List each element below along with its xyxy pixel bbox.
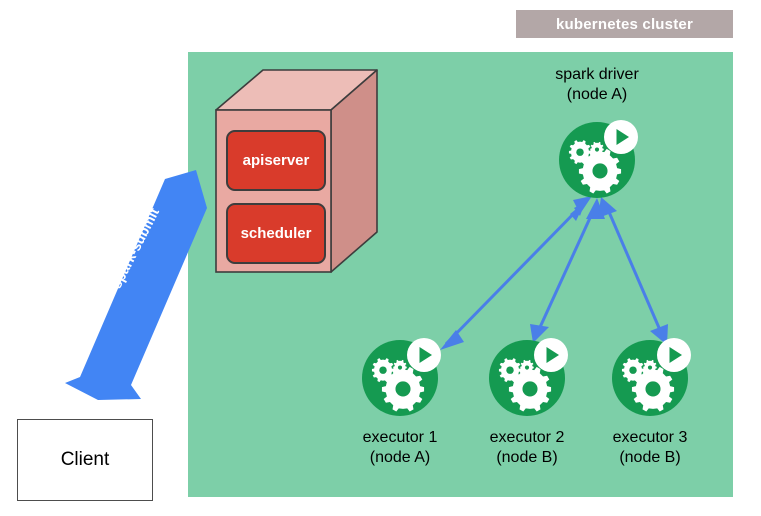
executor-2-subtitle: (node B) xyxy=(467,448,587,468)
spark-submit-arrow xyxy=(65,170,207,400)
spark-driver-title: spark driver xyxy=(527,65,667,85)
spark-driver-subtitle: (node A) xyxy=(527,85,667,105)
executor-3-subtitle: (node B) xyxy=(590,448,710,468)
executor-2-title: executor 2 xyxy=(467,428,587,448)
scheduler-component[interactable]: scheduler xyxy=(226,203,326,264)
executor-1-subtitle: (node A) xyxy=(340,448,460,468)
executor-1-title: executor 1 xyxy=(340,428,460,448)
apiserver-component[interactable]: apiserver xyxy=(226,130,326,191)
executor-3-title: executor 3 xyxy=(590,428,710,448)
kubernetes-cluster-badge: kubernetes cluster xyxy=(516,10,733,38)
client-box[interactable]: Client xyxy=(17,419,153,501)
diagram-canvas: kubernetes cluster apiserver scheduler s… xyxy=(0,0,761,516)
